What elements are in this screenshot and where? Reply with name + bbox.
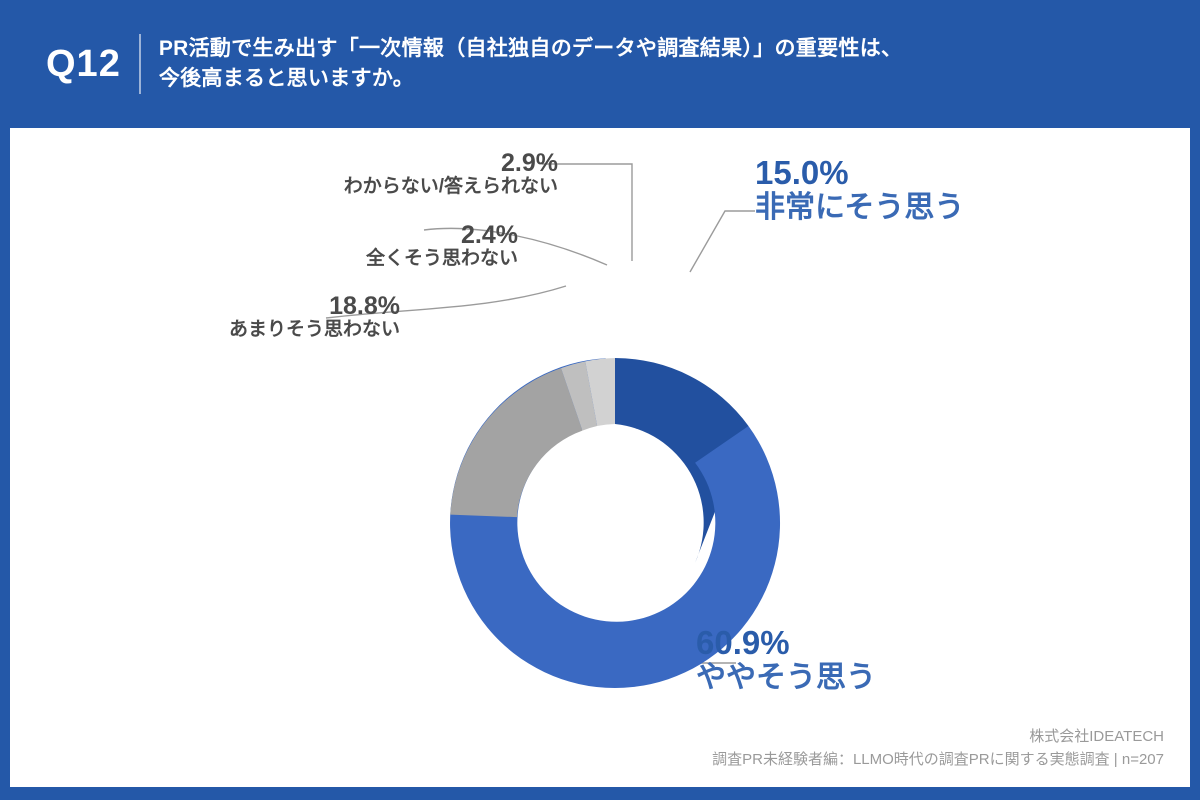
label-somewhat-pct: 60.9% — [696, 626, 1026, 661]
label-very: 15.0% 非常にそう思う — [755, 156, 1085, 225]
label-very-pct: 15.0% — [755, 156, 1085, 191]
source-credit: 株式会社IDEATECH 調査PR未経験者編：LLMO時代の調査PRに関する実態… — [712, 725, 1164, 772]
credit-company: 株式会社IDEATECH — [712, 725, 1164, 748]
label-not-much-pct: 18.8% — [110, 293, 400, 319]
label-not-much-name: あまりそう思わない — [110, 319, 400, 341]
slice-not-much[interactable] — [450, 368, 582, 517]
credit-survey: 調査PR未経験者編：LLMO時代の調査PRに関する実態調査 | n=207 — [712, 748, 1164, 771]
chart-stage: 2.9% わからない/答えられない 2.4% 全くそう思わない 18.8% あま… — [10, 128, 1190, 787]
slide-root: Q12 PR活動で生み出す「一次情報（自社独自のデータや調査結果）」の重要性は、… — [0, 0, 1200, 800]
question-title-line2: 今後高まると思いますか。 — [159, 64, 902, 94]
label-not-at-all: 2.4% 全くそう思わない — [228, 222, 518, 270]
chart-card: 2.9% わからない/答えられない 2.4% 全くそう思わない 18.8% あま… — [10, 128, 1190, 787]
question-header: Q12 PR活動で生み出す「一次情報（自社独自のデータや調査結果）」の重要性は、… — [0, 0, 1200, 128]
leader-line-very — [690, 211, 755, 272]
label-somewhat: 60.9% ややそう思う — [696, 626, 1026, 695]
label-not-at-all-pct: 2.4% — [228, 222, 518, 248]
label-dont-know: 2.9% わからない/答えられない — [268, 150, 558, 198]
label-dont-know-pct: 2.9% — [268, 150, 558, 176]
label-not-much: 18.8% あまりそう思わない — [110, 293, 400, 341]
label-somewhat-name: ややそう思う — [696, 661, 1026, 696]
question-number: Q12 — [46, 45, 139, 83]
label-dont-know-name: わからない/答えられない — [268, 176, 558, 198]
question-title: PR活動で生み出す「一次情報（自社独自のデータや調査結果）」の重要性は、 今後高… — [159, 34, 902, 95]
label-not-at-all-name: 全くそう思わない — [228, 248, 518, 270]
label-very-name: 非常にそう思う — [755, 191, 1085, 226]
header-divider — [139, 34, 141, 94]
question-title-line1: PR活動で生み出す「一次情報（自社独自のデータや調査結果）」の重要性は、 — [159, 34, 902, 64]
